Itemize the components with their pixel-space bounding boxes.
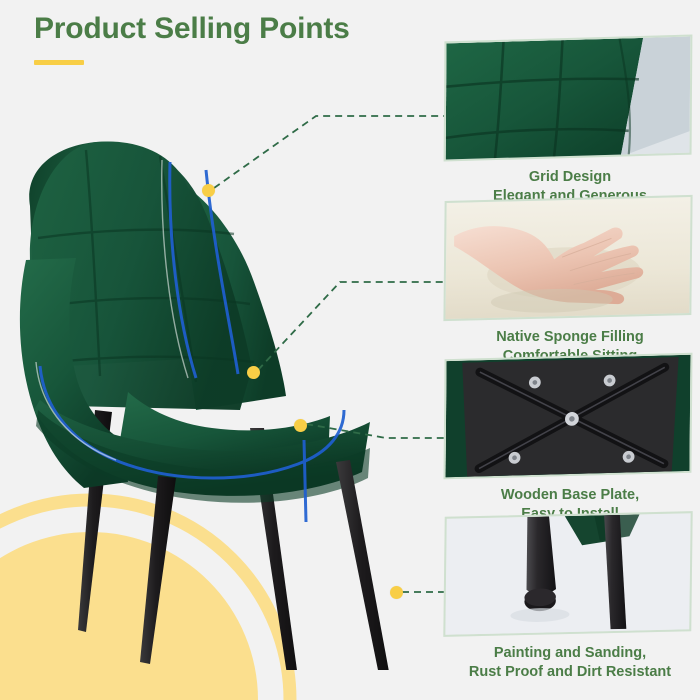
feature-thumbnail-painting-sanding (443, 511, 692, 637)
feature-item-wooden-base-plate[interactable]: Wooden Base Plate, Easy to Install (440, 356, 700, 524)
caption-line-1: Wooden Base Plate, (440, 486, 700, 505)
infographic-canvas: Product Selling Points (0, 0, 700, 700)
callout-marker-3[interactable] (294, 419, 307, 432)
feature-thumbnail-wooden-base-plate (444, 353, 693, 480)
caption-line-1: Painting and Sanding, (440, 644, 700, 663)
feature-thumbnail-grid-design (444, 35, 693, 162)
feature-list: Grid Design Elegant and Generous (440, 38, 700, 698)
caption-line-1: Native Sponge Filling (440, 328, 700, 347)
caption-line-1: Grid Design (440, 168, 700, 187)
feature-item-sponge-filling[interactable]: Native Sponge Filling Comfortable Sittin… (440, 198, 700, 366)
callout-marker-1[interactable] (202, 184, 215, 197)
callout-marker-2[interactable] (247, 366, 260, 379)
product-chair-image (0, 110, 440, 670)
feature-item-grid-design[interactable]: Grid Design Elegant and Generous (440, 38, 700, 206)
feature-thumbnail-sponge-filling (443, 195, 692, 321)
caption-line-2: Rust Proof and Dirt Resistant (440, 663, 700, 682)
feature-item-painting-sanding[interactable]: Painting and Sanding, Rust Proof and Dir… (440, 514, 700, 682)
title-underline (34, 60, 84, 65)
feature-caption-painting-sanding: Painting and Sanding, Rust Proof and Dir… (440, 644, 700, 682)
callout-marker-4[interactable] (390, 586, 403, 599)
page-title: Product Selling Points (34, 12, 350, 46)
